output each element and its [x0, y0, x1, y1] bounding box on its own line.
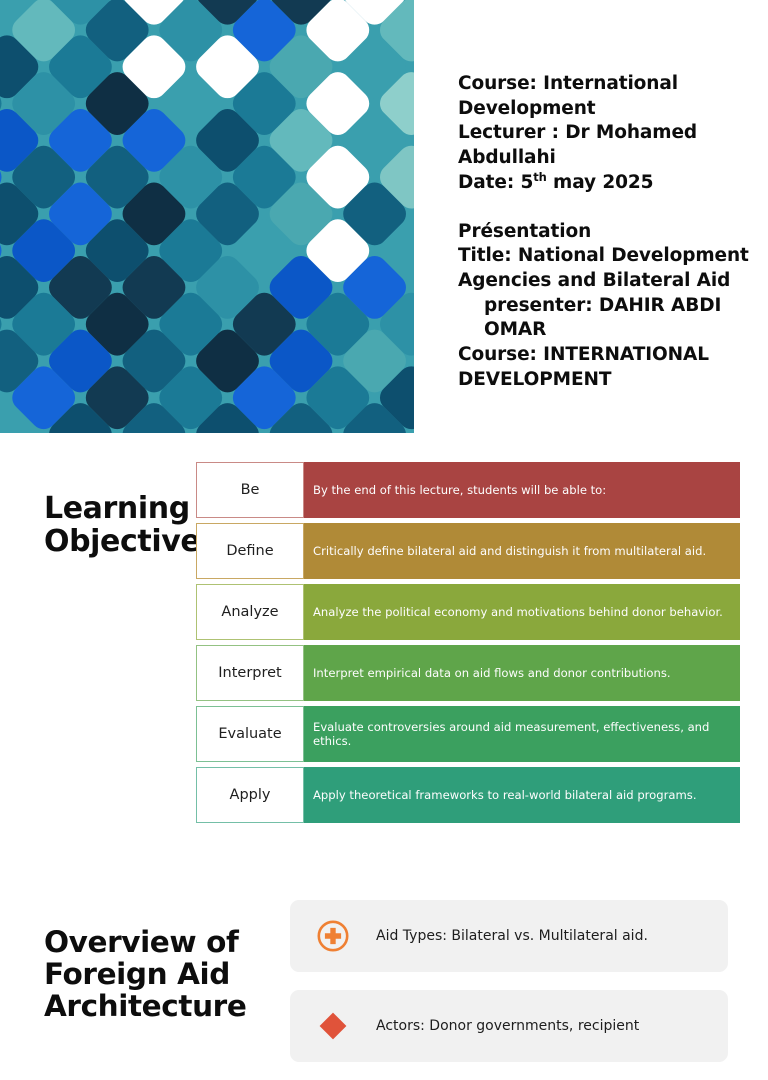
- abstract-mosaic-diamond-pattern: [0, 0, 414, 433]
- title-slide: Course: International Development Lectur…: [0, 0, 768, 434]
- lecturer-line: Lecturer : Dr Mohamed Abdullahi: [458, 121, 758, 170]
- date-prefix: Date: 5: [458, 172, 533, 193]
- objective-value: By the end of this lecture, students wil…: [304, 462, 740, 518]
- objective-value: Evaluate controversies around aid measur…: [304, 706, 740, 762]
- overview-card-label: Actors: Donor governments, recipient: [376, 1017, 728, 1035]
- objectives-table: Be By the end of this lecture, students …: [196, 462, 740, 828]
- objective-key: Analyze: [196, 584, 304, 640]
- table-row: Interpret Interpret empirical data on ai…: [196, 645, 740, 701]
- learning-objectives-slide: Learning Objectives Be By the end of thi…: [0, 434, 768, 868]
- presentation-label: Présentation: [458, 220, 758, 245]
- objective-value: Apply theoretical frameworks to real-wor…: [304, 767, 740, 823]
- table-row: Be By the end of this lecture, students …: [196, 462, 740, 518]
- objective-key: Evaluate: [196, 706, 304, 762]
- course-line: Course: International Development: [458, 72, 758, 121]
- table-row: Define Critically define bilateral aid a…: [196, 523, 740, 579]
- date-ordinal-suffix: th: [533, 170, 546, 184]
- overview-card-label: Aid Types: Bilateral vs. Multilateral ai…: [376, 927, 728, 945]
- date-line: Date: 5th may 2025: [458, 171, 758, 196]
- title-block: Course: International Development Lectur…: [458, 72, 758, 392]
- objective-value: Interpret empirical data on aid flows an…: [304, 645, 740, 701]
- spacer: [458, 196, 758, 220]
- presentation-title-line: Title: National Development Agencies and…: [458, 244, 758, 293]
- overview-slide: Overview of Foreign Aid Architecture Aid…: [0, 868, 768, 1024]
- diamond-icon: [290, 1009, 376, 1043]
- objective-value: Critically define bilateral aid and dist…: [304, 523, 740, 579]
- objective-key: Apply: [196, 767, 304, 823]
- overview-card-list: Aid Types: Bilateral vs. Multilateral ai…: [290, 900, 728, 1080]
- circle-plus-icon: [290, 919, 376, 953]
- list-item: Actors: Donor governments, recipient: [290, 990, 728, 1062]
- date-suffix: may 2025: [547, 172, 654, 193]
- overview-heading: Overview of Foreign Aid Architecture: [44, 926, 279, 1022]
- table-row: Analyze Analyze the political economy an…: [196, 584, 740, 640]
- presenter-line: presenter: DAHIR ABDI OMAR: [458, 294, 758, 343]
- table-row: Evaluate Evaluate controversies around a…: [196, 706, 740, 762]
- table-row: Apply Apply theoretical frameworks to re…: [196, 767, 740, 823]
- objective-value: Analyze the political economy and motiva…: [304, 584, 740, 640]
- objective-key: Be: [196, 462, 304, 518]
- objective-key: Define: [196, 523, 304, 579]
- list-item: Aid Types: Bilateral vs. Multilateral ai…: [290, 900, 728, 972]
- objective-key: Interpret: [196, 645, 304, 701]
- course-line-secondary: Course: INTERNATIONAL DEVELOPMENT: [458, 343, 758, 392]
